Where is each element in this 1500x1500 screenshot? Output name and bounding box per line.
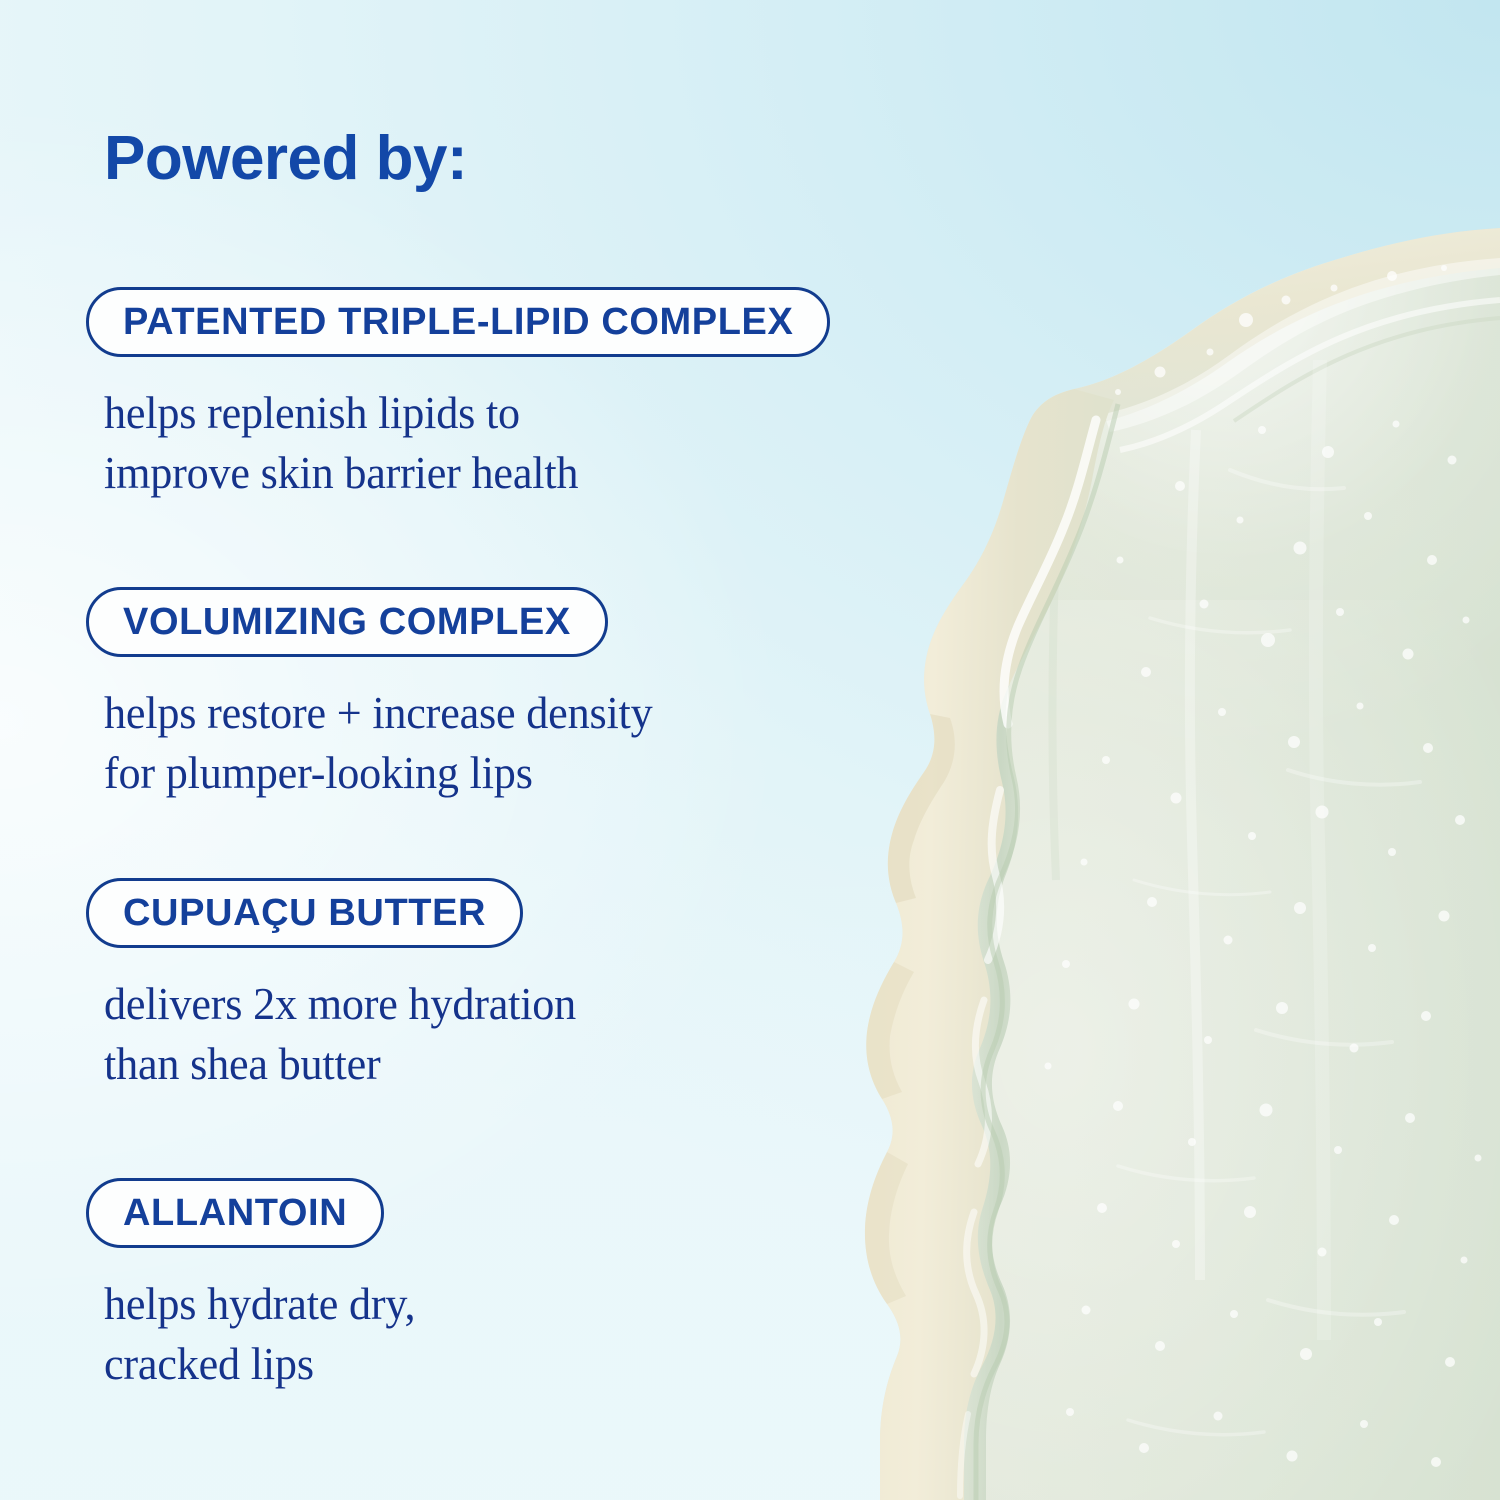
ingredient-block-4: ALLANTOIN helps hydrate dry, cracked lip… <box>86 1178 428 1394</box>
ingredient-block-3: CUPUAÇU BUTTER delivers 2x more hydratio… <box>86 878 596 1094</box>
ingredient-description-3: delivers 2x more hydration than shea but… <box>104 974 576 1094</box>
page-title: Powered by: <box>104 128 467 190</box>
ingredient-badge-cupuacu-butter: CUPUAÇU BUTTER <box>86 878 523 948</box>
ingredient-badge-volumizing-complex: VOLUMIZING COMPLEX <box>86 587 608 657</box>
ingredient-block-2: VOLUMIZING COMPLEX helps restore + incre… <box>86 587 675 803</box>
ingredient-description-1: helps replenish lipids to improve skin b… <box>104 383 801 503</box>
ingredient-badge-allantoin: ALLANTOIN <box>86 1178 384 1248</box>
content-column: Powered by: PATENTED TRIPLE-LIPID COMPLE… <box>0 0 1060 1500</box>
ingredient-block-1: PATENTED TRIPLE-LIPID COMPLEX helps repl… <box>86 287 830 503</box>
ingredient-badge-triple-lipid-complex: PATENTED TRIPLE-LIPID COMPLEX <box>86 287 830 357</box>
ingredient-infographic: Powered by: PATENTED TRIPLE-LIPID COMPLE… <box>0 0 1500 1500</box>
ingredient-description-2: helps restore + increase density for plu… <box>104 683 652 803</box>
ingredient-description-4: helps hydrate dry, cracked lips <box>104 1274 415 1394</box>
